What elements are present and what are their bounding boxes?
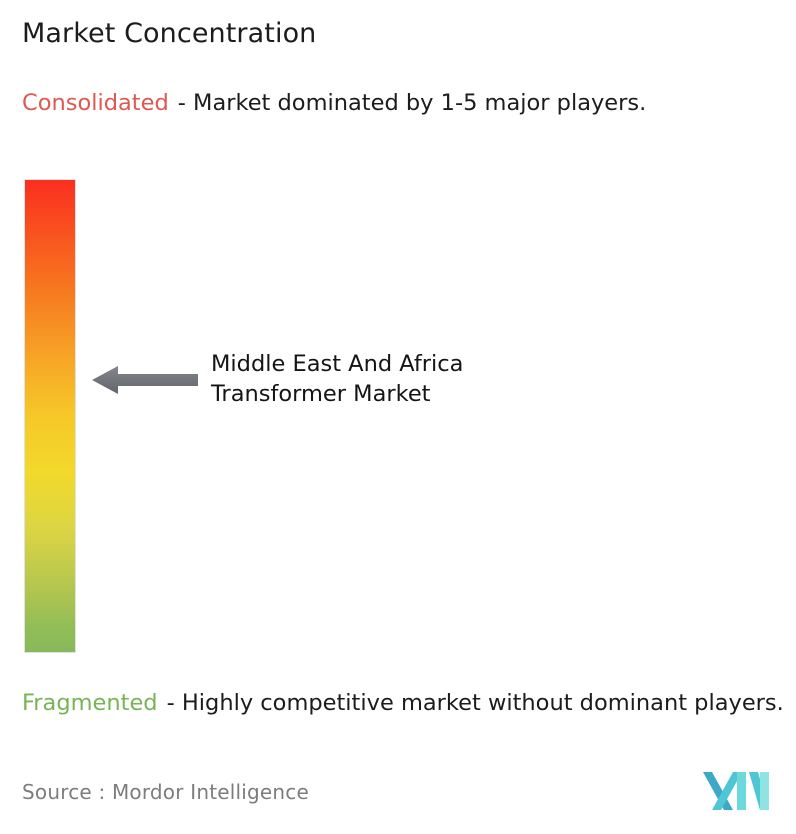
consolidated-separator: - [178, 90, 186, 116]
fragmented-legend: Fragmented- Highly competitive market wi… [22, 686, 784, 720]
consolidated-description: Market dominated by 1-5 major players. [193, 90, 646, 116]
fragmented-separator: - [167, 690, 175, 716]
fragmented-term: Fragmented [22, 690, 158, 716]
source-credit: Source : Mordor Intelligence [22, 780, 309, 804]
arrow-left-icon [92, 364, 198, 396]
consolidated-legend: Consolidated- Market dominated by 1-5 ma… [22, 86, 770, 120]
page-title: Market Concentration [22, 18, 316, 49]
market-pointer-label: Middle East And Africa Transformer Marke… [211, 349, 463, 409]
concentration-gradient-bar [25, 180, 75, 652]
consolidated-term: Consolidated [22, 90, 169, 116]
mordor-intelligence-logo [703, 770, 769, 812]
fragmented-description: Highly competitive market without domina… [182, 690, 784, 716]
